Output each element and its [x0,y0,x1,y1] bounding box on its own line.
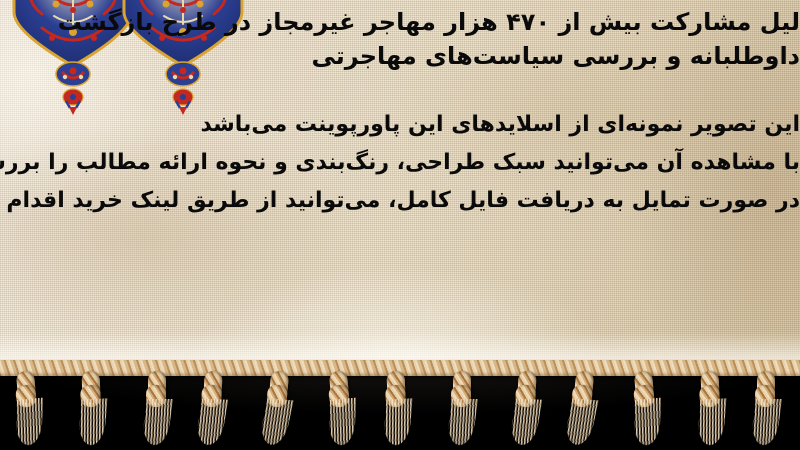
fringe-tassel [325,370,357,446]
fringe-tassel [261,370,293,446]
tassel-strands [750,399,782,445]
fringe-tassel [12,370,44,446]
fringe-tassel [198,370,227,445]
fringe-tassel [630,370,662,446]
tassel-strands [563,398,599,446]
tassel-strands [141,399,173,445]
tassel-strands [258,398,294,446]
carpet-tassel-fringe [0,360,800,450]
slide-canvas: لیل مشارکت بیش از ۴۷۰ هزار مهاجر غیرمجاز… [0,0,800,450]
title-line-2: داوطلبانه و بررسی سیاست‌های مهاجرتی [0,39,800,73]
fringe-tassel [511,370,540,445]
body-line-3: در صورت تمایل به دریافت فایل کامل، می‌تو… [0,182,800,220]
tassel-strands [329,398,357,447]
fringe-tassel [78,370,107,445]
body-line-1: این تصویر نمونه‌ای از اسلایدهای این پاور… [0,106,800,144]
title-line-1: لیل مشارکت بیش از ۴۷۰ هزار مهاجر غیرمجاز… [0,5,800,39]
tassel-strands [383,398,413,445]
fringe-tassel [565,370,597,446]
slide-text-area: لیل مشارکت بیش از ۴۷۰ هزار مهاجر غیرمجاز… [0,0,800,378]
tassel-strands [78,398,108,445]
tassel-strands [446,399,478,445]
tassel-strands [195,399,229,446]
tassel-strands [15,398,43,447]
slide-body: این تصویر نمونه‌ای از اسلایدهای این پاور… [0,106,800,219]
tassel-strands [509,399,543,446]
slide-title: لیل مشارکت بیش از ۴۷۰ هزار مهاجر غیرمجاز… [0,5,800,73]
fringe-tassel [449,371,475,445]
tassel-strands [696,398,726,445]
fringe-tassel [753,371,779,445]
fringe-tassel [696,370,725,445]
tassel-strands [634,398,662,447]
fringe-tassel [382,370,411,445]
body-line-2: با مشاهده آن می‌توانید سبک طراحی، رنگ‌بن… [0,144,800,182]
fringe-tassel [144,371,170,445]
